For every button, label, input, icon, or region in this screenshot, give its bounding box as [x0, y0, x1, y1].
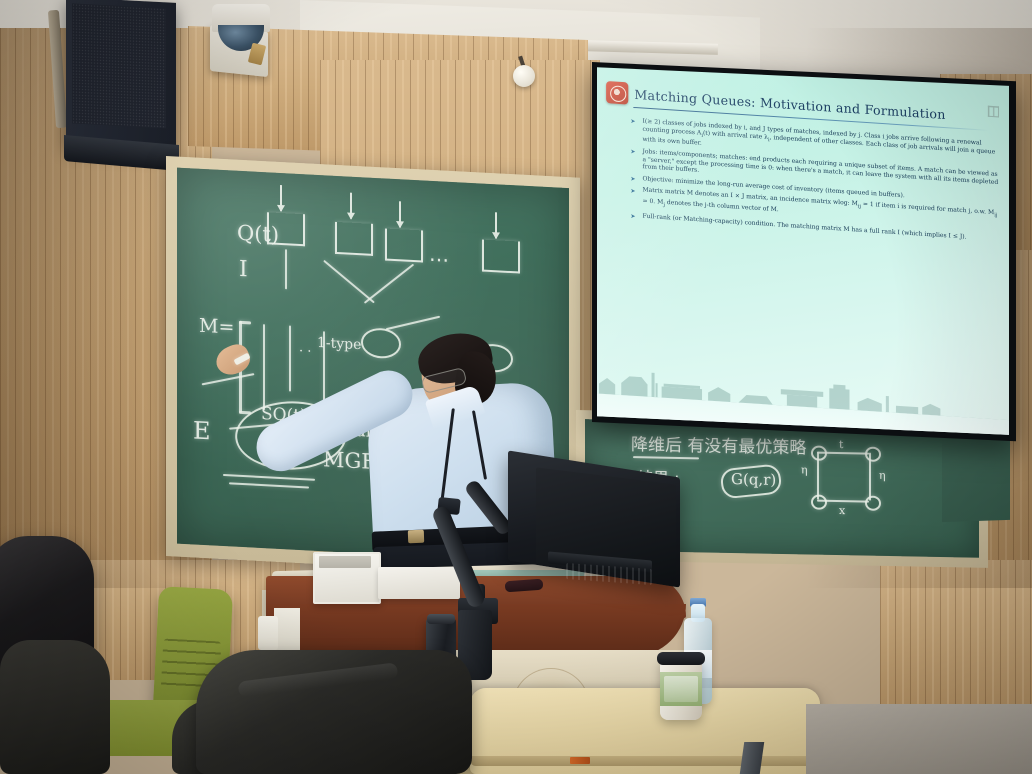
lecture-hall-photo: Q(t) I ⋯ M= · · 1-type E SQ(t)	[0, 0, 1032, 774]
presentation-slide: Matching Queues: Motivation and Formulat…	[597, 67, 1009, 435]
wall-plug	[258, 616, 278, 650]
tree-edge-1	[285, 249, 287, 289]
speaker-grille-icon	[72, 3, 166, 128]
chalk-note-ellipsis: ⋯	[429, 247, 454, 272]
queue-buffer-3	[385, 228, 423, 262]
presenter	[250, 330, 540, 590]
bullet-marker-icon: ➤	[630, 175, 635, 183]
coffee-cup-sleeve-label	[664, 676, 698, 702]
slide-number-icon	[988, 106, 999, 118]
ceiling-sensor-icon	[513, 65, 535, 87]
floor	[806, 704, 1032, 774]
queue-arrow-3	[399, 201, 401, 227]
queue-buffer-1	[267, 212, 305, 246]
queue-buffer-2	[335, 222, 373, 256]
cn-underline	[633, 456, 699, 459]
underline-4	[202, 373, 255, 385]
chalk-note-g-q-r: G(q,r)	[731, 470, 776, 489]
graph-node-tl	[811, 446, 827, 461]
table-edge	[470, 756, 820, 766]
graph-node-br	[865, 496, 881, 511]
dark-bag[interactable]	[0, 640, 110, 774]
slide-bullet-1-text: I(≥ 2) classes of jobs indexed by i, and…	[642, 118, 995, 156]
tree-edge-4	[386, 316, 440, 331]
thermos-cap[interactable]	[427, 614, 455, 624]
graph-label-t: t	[839, 438, 843, 451]
queue-arrow-2	[350, 193, 352, 219]
table-label-sticker	[570, 757, 590, 764]
foam-box-inner	[319, 556, 371, 568]
flat-white-box	[378, 567, 460, 599]
bullet-marker-icon: ➤	[630, 187, 635, 195]
bullet-marker-icon: ➤	[630, 148, 635, 156]
graph-label-eta-1: η	[801, 463, 808, 476]
projection-screen-surface: Matching Queues: Motivation and Formulat…	[597, 67, 1009, 435]
queue-arrow-4	[495, 212, 497, 238]
queue-buffer-4	[482, 240, 520, 274]
slide-bullet-list: ➤ I(≥ 2) classes of jobs indexed by i, a…	[629, 117, 999, 247]
chalk-note-qt: Q(t)	[237, 221, 279, 247]
university-crest-logo-icon	[606, 81, 628, 105]
chalk-note-matrix-m: M=	[199, 315, 234, 339]
chalk-note-cn-1: 降维后 有没有最优策略	[631, 430, 806, 458]
chalk-note-i: I	[239, 257, 248, 282]
graph-label-x: x	[839, 504, 845, 517]
chalk-note-e: E	[193, 416, 211, 445]
tree-edge-3	[364, 264, 414, 304]
graph-label-eta-2: η	[879, 469, 886, 482]
queue-arrow-1	[280, 185, 282, 211]
bullet-marker-icon: ➤	[630, 118, 635, 126]
bullet-marker-icon: ➤	[630, 213, 635, 221]
dark-jacket[interactable]	[196, 650, 472, 774]
coffee-cup-lid[interactable]	[657, 652, 705, 665]
matrix-bracket-left-top	[239, 321, 251, 324]
wall-speaker	[66, 0, 176, 151]
belt-buckle-icon	[408, 530, 424, 544]
graph-node-tr	[865, 447, 881, 462]
wood-slat-wall-far-right	[880, 560, 1032, 710]
tree-edge-2	[323, 260, 375, 304]
projection-screen: Matching Queues: Motivation and Formulat…	[592, 62, 1016, 441]
graph-node-bl	[811, 495, 827, 510]
